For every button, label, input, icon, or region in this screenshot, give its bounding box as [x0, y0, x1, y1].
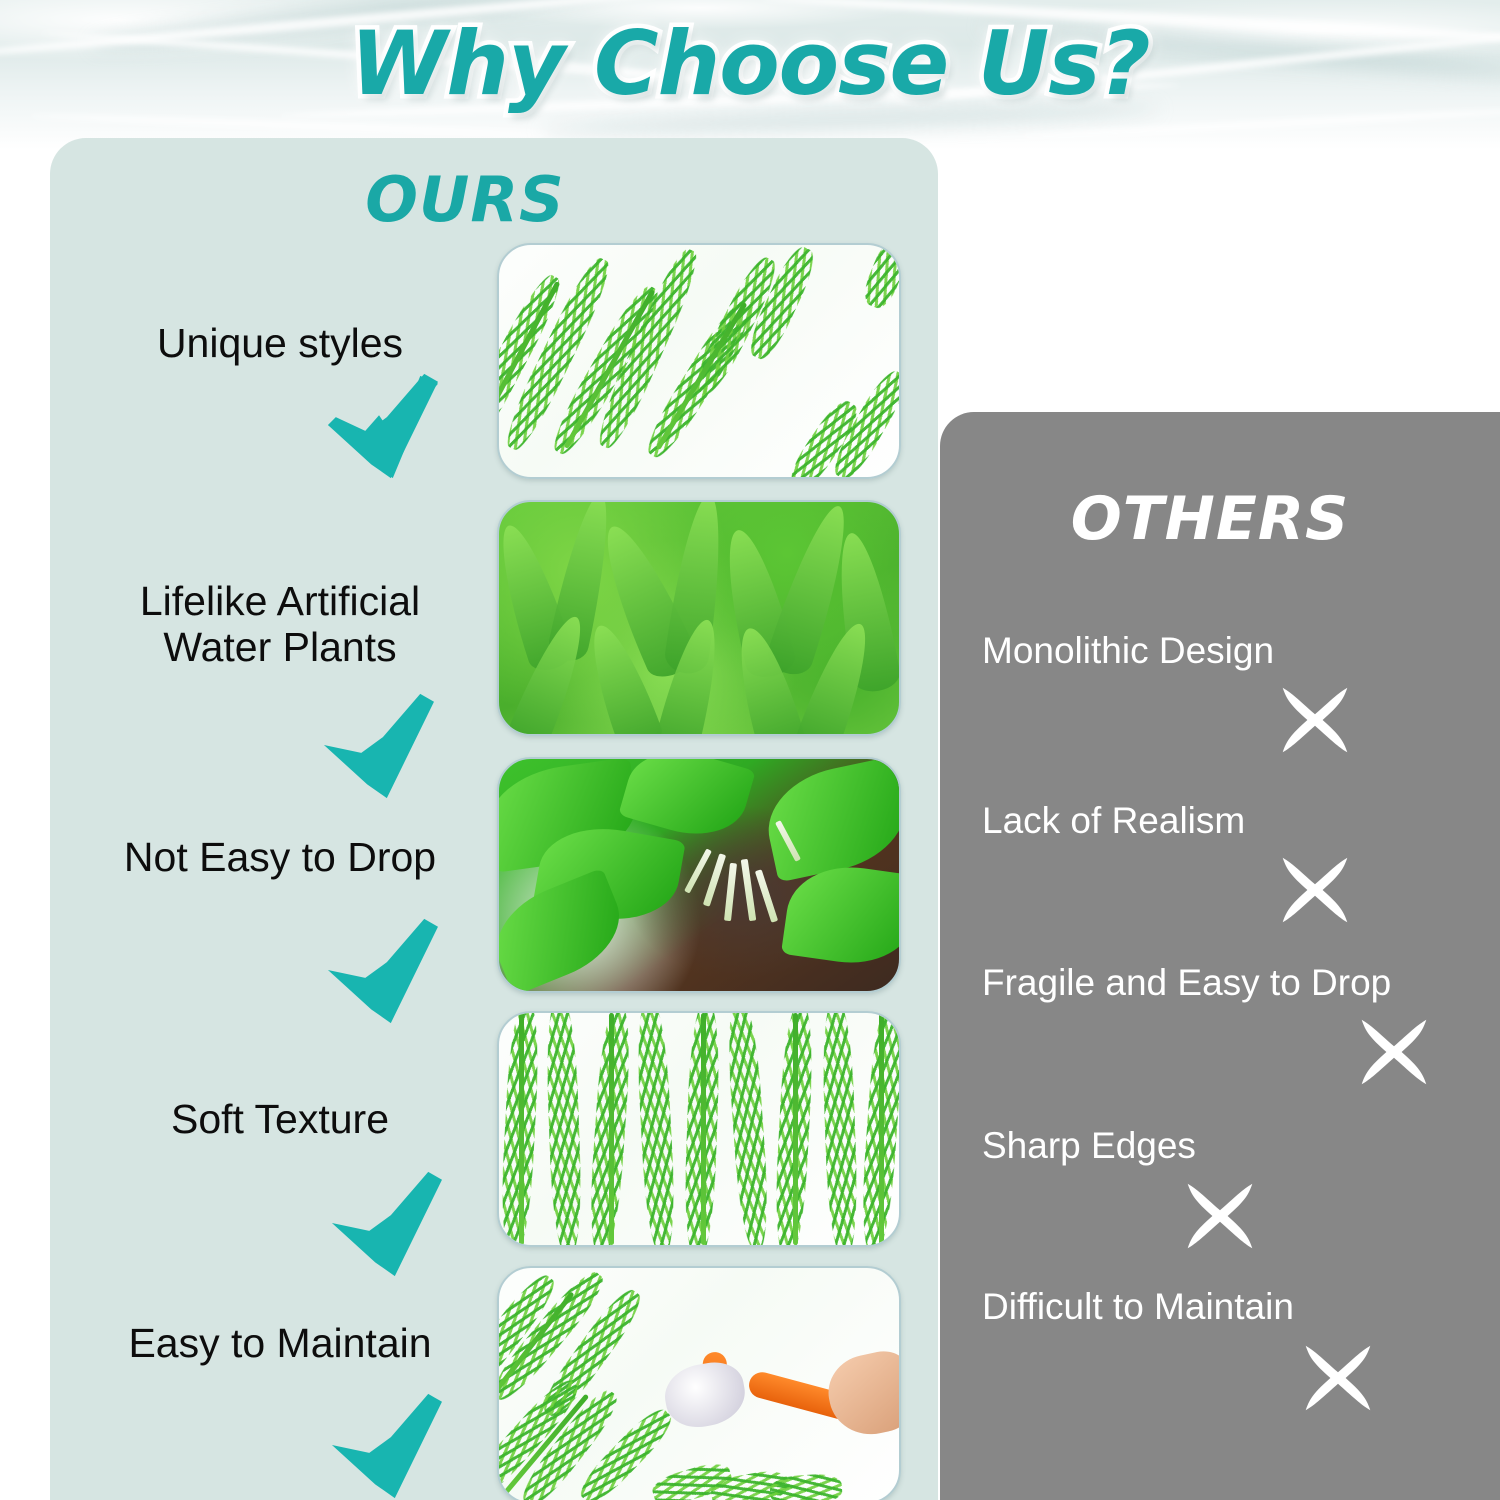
ours-photo-4 — [497, 1011, 901, 1247]
others-feature-label-2: Lack of Realism — [982, 800, 1245, 842]
others-feature-label-5: Difficult to Maintain — [982, 1286, 1294, 1328]
ours-photo-5 — [497, 1266, 901, 1500]
ours-photo-1 — [497, 243, 901, 479]
x-mark-icon — [1277, 852, 1353, 928]
ours-feature-label-4: Soft Texture — [70, 1096, 490, 1142]
infographic-root: Why Choose Us? OURS OTHERS Unique styles… — [0, 0, 1500, 1500]
others-heading: OTHERS — [1040, 484, 1380, 554]
others-panel — [940, 412, 1500, 1500]
page-title: Why Choose Us? — [0, 12, 1500, 115]
ours-photo-3 — [497, 757, 901, 993]
x-mark-icon — [1300, 1340, 1376, 1416]
x-mark-icon — [1182, 1178, 1258, 1254]
ours-feature-label-3: Not Easy to Drop — [70, 834, 490, 880]
others-feature-label-1: Monolithic Design — [982, 630, 1274, 672]
brush-head — [660, 1358, 750, 1433]
ours-feature-label-2: Lifelike Artificial Water Plants — [70, 578, 490, 671]
hand — [822, 1346, 901, 1442]
check-icon — [322, 915, 440, 1027]
ours-feature-label-1: Unique styles — [70, 320, 490, 366]
x-mark-icon — [1356, 1014, 1432, 1090]
check-icon — [326, 1168, 444, 1280]
check-icon — [318, 690, 436, 802]
ours-photo-2 — [497, 500, 901, 736]
others-feature-label-3: Fragile and Easy to Drop — [982, 962, 1391, 1004]
x-mark-icon — [1277, 682, 1353, 758]
others-feature-label-4: Sharp Edges — [982, 1125, 1196, 1167]
ours-heading: OURS — [255, 163, 675, 236]
check-icon — [322, 370, 440, 482]
check-icon — [326, 1390, 444, 1500]
ours-feature-label-5: Easy to Maintain — [70, 1320, 490, 1366]
